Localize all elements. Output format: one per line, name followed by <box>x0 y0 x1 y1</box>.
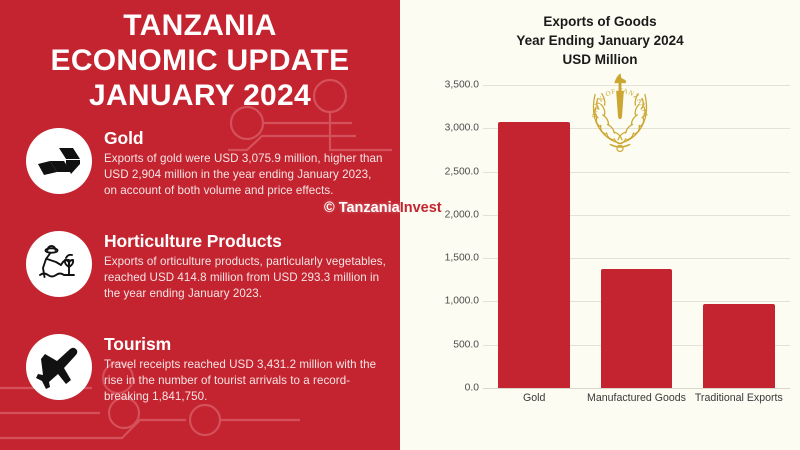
headline-line-2: ECONOMIC UPDATE <box>0 43 400 78</box>
fact-item-gold: Gold Exports of gold were USD 3,075.9 mi… <box>26 128 386 199</box>
x-axis-tick-label: Gold <box>483 392 585 404</box>
page-title: TANZANIA ECONOMIC UPDATE JANUARY 2024 <box>0 8 400 113</box>
gridline <box>483 85 790 86</box>
headline-line-1: TANZANIA <box>0 8 400 43</box>
bar-manufactured-goods[interactable] <box>601 269 673 388</box>
y-axis-tick-label: 500.0 <box>405 339 479 350</box>
x-axis-tick-label: Traditional Exports <box>688 392 790 404</box>
bar-gold[interactable] <box>498 122 570 388</box>
y-axis-tick-label: 3,000.0 <box>405 123 479 134</box>
fact-title: Gold <box>104 129 386 148</box>
airplane-icon <box>26 334 92 400</box>
fact-title: Tourism <box>104 335 386 354</box>
fact-item-horticulture: Horticulture Products Exports of orticul… <box>26 231 386 302</box>
bar-traditional-exports[interactable] <box>703 304 775 388</box>
headline-line-3: JANUARY 2024 <box>0 78 400 113</box>
y-axis-tick-label: 0.0 <box>405 383 479 394</box>
y-axis-tick-label: 2,500.0 <box>405 166 479 177</box>
y-axis: 0.0500.01,000.01,500.02,000.02,500.03,00… <box>400 0 479 450</box>
fact-title: Horticulture Products <box>104 232 386 251</box>
plot-area <box>483 85 790 388</box>
y-axis-tick-label: 1,500.0 <box>405 253 479 264</box>
x-axis-tick-label: Manufactured Goods <box>585 392 687 404</box>
x-axis-line <box>483 388 790 389</box>
fact-item-tourism: Tourism Travel receipts reached USD 3,43… <box>26 334 386 405</box>
tanzaniainvest-watermark: © TanzaniaInvest <box>324 200 442 216</box>
fact-text: Travel receipts reached USD 3,431.2 mill… <box>104 357 386 405</box>
y-axis-tick-label: 1,000.0 <box>405 296 479 307</box>
farmer-planting-icon <box>26 231 92 297</box>
chart-panel: Exports of Goods Year Ending January 202… <box>400 0 800 450</box>
left-info-panel: TANZANIA ECONOMIC UPDATE JANUARY 2024 Go… <box>0 0 400 450</box>
watermark-part-2: Invest <box>400 200 442 216</box>
watermark-part-1: © Tanzania <box>324 200 400 216</box>
fact-text: Exports of gold were USD 3,075.9 million… <box>104 151 386 199</box>
gold-bars-icon <box>26 128 92 194</box>
y-axis-tick-label: 3,500.0 <box>405 80 479 91</box>
fact-text: Exports of orticulture products, particu… <box>104 254 386 302</box>
